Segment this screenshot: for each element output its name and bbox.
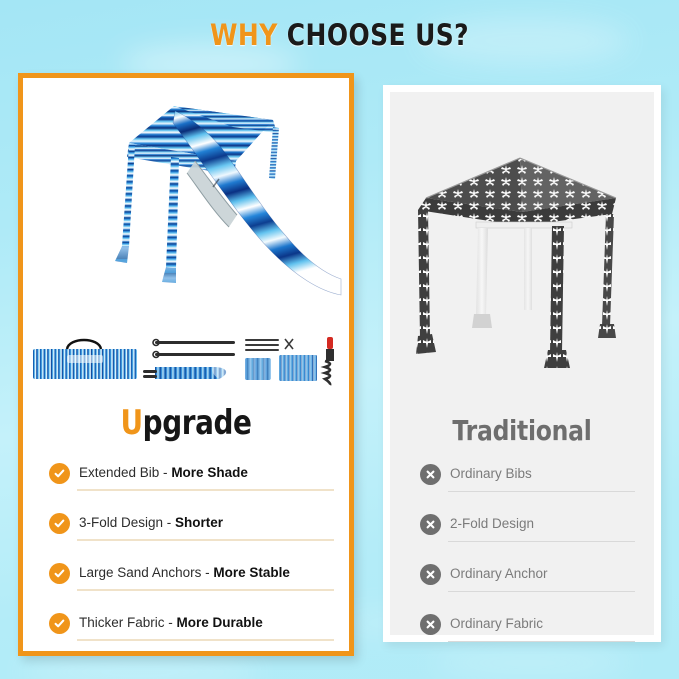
check-icon [49,463,70,484]
upgrade-heading: Upgrade [52,403,319,443]
upgrade-accessories-image [31,333,343,388]
list-item-label: Ordinary Bibs [450,466,532,482]
upgrade-feature-list: Extended Bib - More Shade 3-Fold Design … [49,463,334,641]
check-icon [49,563,70,584]
list-item-label: Ordinary Anchor [450,566,548,582]
item-divider [448,541,635,542]
list-item-label: 3-Fold Design - Shorter [79,515,223,531]
cloud-decoration [430,648,630,678]
traditional-panel: Traditional Ordinary Bibs 2-Fold Design … [383,85,661,642]
list-item: 3-Fold Design - Shorter [49,513,334,541]
list-item: 2-Fold Design [420,514,635,542]
x-icon [420,514,441,535]
list-item: Thicker Fabric - More Durable [49,613,334,641]
check-icon [49,613,70,634]
item-divider [77,489,334,491]
item-divider [448,641,635,642]
item-divider [77,539,334,541]
upgrade-heading-rest: pgrade [143,403,252,443]
item-divider [448,491,635,492]
list-item-label: Large Sand Anchors - More Stable [79,565,290,581]
cloud-decoration [20,655,260,679]
list-item-label: Ordinary Fabric [450,616,543,632]
traditional-product-image [402,140,642,390]
upgrade-heading-highlight: U [120,403,142,443]
x-icon [420,464,441,485]
list-item: Extended Bib - More Shade [49,463,334,491]
x-icon [420,614,441,635]
traditional-feature-list: Ordinary Bibs 2-Fold Design Ordinary Anc… [420,464,635,642]
page-title-highlight: WHY [210,18,287,52]
list-item: Ordinary Anchor [420,564,635,592]
list-item-label: 2-Fold Design [450,516,534,532]
upgrade-panel: Upgrade Extended Bib - More Shade 3-Fold… [18,73,354,656]
list-item-label: Extended Bib - More Shade [79,465,248,481]
page-title-rest: CHOOSE US? [287,18,469,52]
item-divider [77,639,334,641]
check-icon [49,513,70,534]
item-divider [448,591,635,592]
list-item: Large Sand Anchors - More Stable [49,563,334,591]
traditional-heading: Traditional [411,414,633,447]
upgrade-product-image [23,83,349,313]
list-item: Ordinary Bibs [420,464,635,492]
item-divider [77,589,334,591]
page-title: WHY CHOOSE US? [48,18,632,52]
list-item: Ordinary Fabric [420,614,635,642]
list-item-label: Thicker Fabric - More Durable [79,615,263,631]
x-icon [420,564,441,585]
